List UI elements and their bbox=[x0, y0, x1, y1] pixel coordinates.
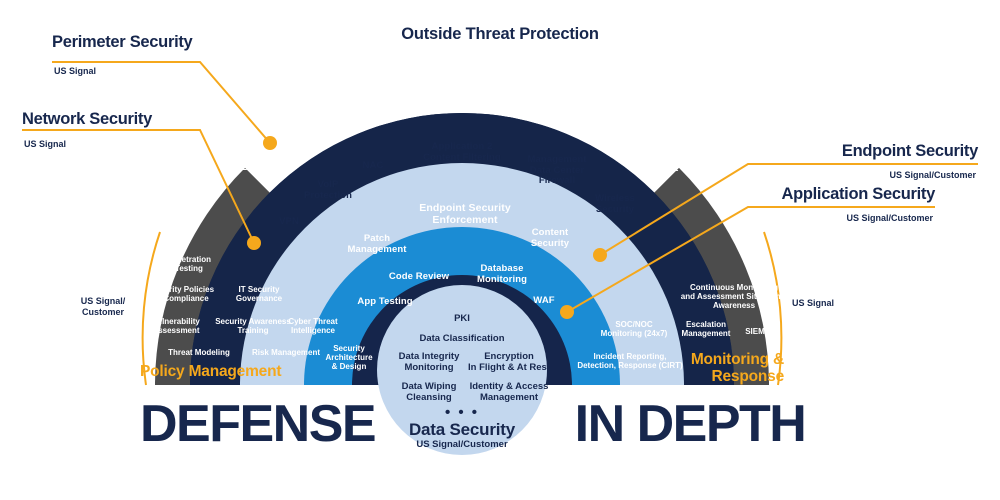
dot-network bbox=[247, 236, 261, 250]
dot-application bbox=[560, 305, 574, 319]
core-data-security bbox=[377, 285, 547, 455]
dot-endpoint bbox=[593, 248, 607, 262]
dot-perimeter bbox=[263, 136, 277, 150]
diagram-canvas: Outside Threat Protection Perimeter Secu… bbox=[0, 0, 1000, 500]
defense-in-depth-svg bbox=[0, 0, 1000, 500]
